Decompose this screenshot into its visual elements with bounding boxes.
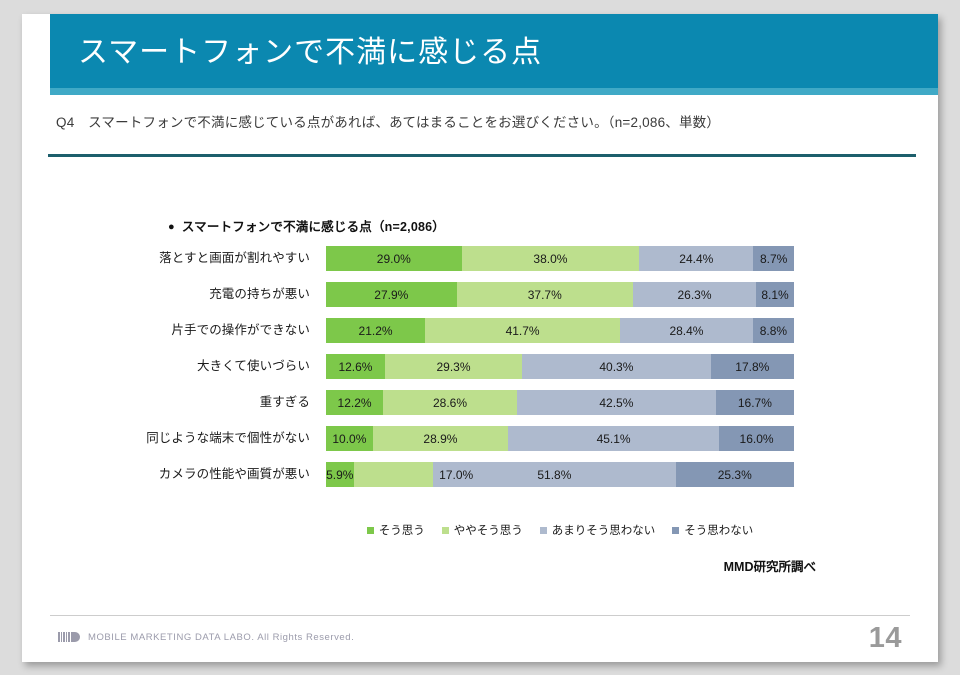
bar-segment-value: 17.0% <box>439 468 473 482</box>
bar-segment: 10.0% <box>326 426 373 451</box>
page-number: 14 <box>869 622 902 655</box>
bar-segment-value: 41.7% <box>506 324 540 338</box>
slide-backdrop: スマートフォンで不満に感じる点 Q4 スマートフォンで不満に感じている点があれば… <box>0 0 960 675</box>
presentation-slide: スマートフォンで不満に感じる点 Q4 スマートフォンで不満に感じている点があれば… <box>22 14 938 662</box>
bar-segment: 29.0% <box>326 246 462 271</box>
legend-swatch-icon <box>672 527 679 534</box>
bar-segment-value: 12.2% <box>338 396 372 410</box>
chart-bar-row: 落とすと画面が割れやすい29.0%38.0%24.4%8.7% <box>22 246 938 271</box>
legend-label: そう思う <box>379 522 425 538</box>
bar-segment-value: 10.0% <box>332 432 366 446</box>
bar-segment-value: 29.0% <box>377 252 411 266</box>
chart-bar-row: 大きくて使いづらい12.6%29.3%40.3%17.8% <box>22 354 938 379</box>
chart-legend: そう思うややそう思うあまりそう思わないそう思わない <box>326 522 794 538</box>
bar-segment-value: 27.9% <box>374 288 408 302</box>
slide-header-accent-strip <box>50 88 938 95</box>
bar-segment: 28.9% <box>373 426 508 451</box>
bar-segment: 38.0% <box>462 246 640 271</box>
bar-segment: 42.5% <box>517 390 716 415</box>
bar-category-label: 大きくて使いづらい <box>22 354 310 379</box>
bar-segment: 27.9% <box>326 282 457 307</box>
legend-item[interactable]: あまりそう思わない <box>540 522 656 538</box>
bar-segment: 26.3% <box>633 282 756 307</box>
bar-segment: 21.2% <box>326 318 425 343</box>
chart-bar-row: 重すぎる12.2%28.6%42.5%16.7% <box>22 390 938 415</box>
legend-label: ややそう思う <box>454 522 523 538</box>
bar-category-label: 落とすと画面が割れやすい <box>22 246 310 271</box>
bar-segment-value: 51.8% <box>537 468 571 482</box>
chart-bar-row: 同じような端末で個性がない10.0%28.9%45.1%16.0% <box>22 426 938 451</box>
bar-segment-value: 38.0% <box>533 252 567 266</box>
legend-label: そう思わない <box>684 522 753 538</box>
bar-segment: 37.7% <box>457 282 633 307</box>
bar-segment-value: 21.2% <box>359 324 393 338</box>
bar-segment-value: 28.9% <box>423 432 457 446</box>
legend-swatch-icon <box>367 527 374 534</box>
bar-track: 10.0%28.9%45.1%16.0% <box>326 426 794 451</box>
bar-segment: 16.7% <box>716 390 794 415</box>
bar-track: 5.9%17.0%51.8%25.3% <box>326 462 794 487</box>
source-note: MMD研究所調べ <box>724 556 816 575</box>
chart-heading-label: スマートフォンで不満に感じる点（n=2,086） <box>182 220 445 234</box>
bar-segment-value: 16.0% <box>740 432 774 446</box>
bar-segment: 8.1% <box>756 282 794 307</box>
bar-segment: 16.0% <box>719 426 794 451</box>
legend-item[interactable]: そう思う <box>367 522 425 538</box>
bar-segment: 29.3% <box>385 354 522 379</box>
header-divider <box>48 154 916 157</box>
bar-track: 29.0%38.0%24.4%8.7% <box>326 246 794 271</box>
bar-category-label: 充電の持ちが悪い <box>22 282 310 307</box>
stacked-bar-chart: 落とすと画面が割れやすい29.0%38.0%24.4%8.7%充電の持ちが悪い2… <box>22 246 938 516</box>
bar-category-label: 重すぎる <box>22 390 310 415</box>
bar-segment-value: 40.3% <box>599 360 633 374</box>
legend-swatch-icon <box>442 527 449 534</box>
bar-segment: 5.9% <box>326 462 354 487</box>
legend-item[interactable]: ややそう思う <box>442 522 523 538</box>
bar-segment-value: 24.4% <box>679 252 713 266</box>
bar-track: 27.9%37.7%26.3%8.1% <box>326 282 794 307</box>
bar-segment-value: 45.1% <box>597 432 631 446</box>
bar-segment: 17.0% <box>354 462 434 487</box>
bar-segment-value: 28.6% <box>433 396 467 410</box>
bar-segment: 24.4% <box>639 246 753 271</box>
bar-category-label: カメラの性能や画質が悪い <box>22 462 310 487</box>
bar-segment: 12.6% <box>326 354 385 379</box>
legend-label: あまりそう思わない <box>552 522 656 538</box>
footer-copyright-text: MOBILE MARKETING DATA LABO. All Rights R… <box>88 632 354 643</box>
bar-segment-value: 25.3% <box>718 468 752 482</box>
bullet-icon: ● <box>168 221 175 233</box>
bar-segment-value: 28.4% <box>669 324 703 338</box>
page-title: スマートフォンで不満に感じる点 <box>78 34 542 72</box>
bar-segment-value: 42.5% <box>599 396 633 410</box>
bar-segment-value: 8.8% <box>760 324 787 338</box>
bar-segment-value: 17.8% <box>735 360 769 374</box>
bar-segment-value: 8.7% <box>760 252 787 266</box>
bar-category-label: 片手での操作ができない <box>22 318 310 343</box>
bar-segment: 8.8% <box>753 318 794 343</box>
bar-segment-value: 37.7% <box>528 288 562 302</box>
bar-segment: 17.8% <box>711 354 794 379</box>
mmd-logo-icon <box>58 631 80 643</box>
chart-bar-row: カメラの性能や画質が悪い5.9%17.0%51.8%25.3% <box>22 462 938 487</box>
chart-bar-row: 片手での操作ができない21.2%41.7%28.4%8.8% <box>22 318 938 343</box>
bar-segment-value: 8.1% <box>761 288 788 302</box>
bar-segment: 28.4% <box>620 318 753 343</box>
question-text: Q4 スマートフォンで不満に感じている点があれば、あてはまることをお選びください… <box>56 111 720 131</box>
legend-item[interactable]: そう思わない <box>672 522 753 538</box>
bar-segment: 12.2% <box>326 390 383 415</box>
bar-segment-value: 16.7% <box>738 396 772 410</box>
bar-track: 12.6%29.3%40.3%17.8% <box>326 354 794 379</box>
bar-segment: 28.6% <box>383 390 517 415</box>
bar-segment-value: 12.6% <box>338 360 372 374</box>
bar-segment: 40.3% <box>522 354 711 379</box>
legend-swatch-icon <box>540 527 547 534</box>
bar-segment: 8.7% <box>753 246 794 271</box>
bar-segment-value: 5.9% <box>326 468 353 482</box>
chart-bar-row: 充電の持ちが悪い27.9%37.7%26.3%8.1% <box>22 282 938 307</box>
bar-track: 21.2%41.7%28.4%8.8% <box>326 318 794 343</box>
bar-segment: 45.1% <box>508 426 719 451</box>
footer-branding: MOBILE MARKETING DATA LABO. All Rights R… <box>58 631 354 643</box>
footer-divider <box>50 615 910 616</box>
bar-segment-value: 26.3% <box>678 288 712 302</box>
bar-segment: 25.3% <box>676 462 794 487</box>
bar-segment-value: 29.3% <box>436 360 470 374</box>
bar-segment: 41.7% <box>425 318 620 343</box>
bar-category-label: 同じような端末で個性がない <box>22 426 310 451</box>
bar-track: 12.2%28.6%42.5%16.7% <box>326 390 794 415</box>
chart-heading: ●スマートフォンで不満に感じる点（n=2,086） <box>168 216 445 235</box>
